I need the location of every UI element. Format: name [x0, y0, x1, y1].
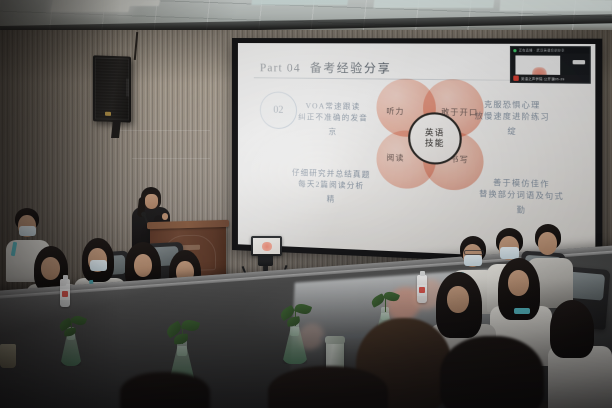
- note-tail: 精: [292, 192, 371, 206]
- face-mask: [90, 260, 107, 271]
- bottle-cap: [63, 275, 68, 280]
- note-tail: 京: [298, 125, 368, 138]
- attendee-hair: [120, 372, 210, 408]
- table-vase-1: [60, 326, 90, 366]
- attendee-head: [447, 286, 469, 313]
- attendee-head: [538, 232, 557, 255]
- speaker-logo: [105, 112, 111, 116]
- thermos-cap: [325, 336, 345, 344]
- watermark-footer-text: 英语之声学院·公开课05-29: [521, 76, 565, 81]
- foreground-attendee-2: [440, 336, 544, 408]
- face-mask: [19, 226, 36, 236]
- podium-top-surface: [147, 220, 229, 229]
- phone-screen: [253, 238, 280, 254]
- foreground-attendee-3: [268, 366, 388, 408]
- core-line-1: 英语: [425, 127, 445, 138]
- vase-glass: [60, 332, 82, 366]
- speaker-side-panel: [126, 78, 129, 96]
- water-bottle: [60, 279, 70, 307]
- note-line-1: 善于模仿佳作: [493, 178, 550, 189]
- slide-note-listening: VOA常速跟读 纠正不准确的发音 京: [298, 100, 368, 138]
- slide-title-chinese: 备考经验分享: [310, 63, 392, 76]
- attendee-hair: [550, 300, 594, 358]
- attendee-lanyard: [514, 308, 530, 314]
- note-line-2: 替换部分词语及句式: [479, 189, 564, 201]
- livestream-watermark: 正在直播 · 武汉英语培训分享 英语之声学院·公开课05-29: [510, 46, 591, 84]
- attendee-head: [508, 270, 529, 296]
- watermark-control-pill: [573, 60, 585, 64]
- note-line-1: 仔细研究并总结真题: [292, 168, 371, 179]
- attendee-right-6: [548, 300, 612, 408]
- slide-section-badge-number: 02: [273, 105, 283, 116]
- bottle-label: [417, 285, 427, 296]
- speaker-grill: [95, 57, 129, 120]
- note-line-2: 每天2篇阅读分析: [298, 179, 364, 190]
- petal-label-reading: 阅读: [386, 151, 404, 163]
- paper-cup: [0, 344, 16, 368]
- watermark-titlebar-text: 正在直播 · 武汉英语培训分享: [519, 48, 565, 52]
- slide-note-reading: 仔细研究并总结真题 每天2篇阅读分析 精: [292, 167, 371, 206]
- note-line-2: 纠正不准确的发音: [298, 112, 368, 122]
- skills-petal-diagram: 听力 敢于开口 阅读 书写 英语 技能: [376, 78, 490, 197]
- presenter-face: [145, 194, 158, 209]
- attendee-hair: [268, 366, 388, 408]
- bottle-cap: [420, 271, 425, 276]
- note-tail: 勤: [479, 202, 564, 217]
- eyeglasses: [464, 250, 484, 255]
- bottle-label: [60, 289, 70, 300]
- conference-room-photo: Part 04备考经验分享 02 VOA常速跟读 纠正不准确的发音 京 仔细研究…: [0, 0, 612, 408]
- vase-glass: [282, 327, 308, 364]
- table-vase-3: [282, 320, 314, 364]
- water-bottle: [417, 275, 427, 303]
- presenter-hand: [162, 213, 168, 220]
- petal-label-listening: 听力: [386, 105, 404, 117]
- attendee-head: [134, 254, 152, 277]
- slide-note-writing: 善于模仿佳作 替换部分词语及句式 勤: [479, 176, 564, 217]
- note-line-1: 克服恐惧心理: [484, 99, 540, 109]
- recording-phone[interactable]: [251, 236, 282, 256]
- ceiling-light-panel: [373, 0, 494, 8]
- slide-section-badge: 02: [260, 91, 297, 129]
- slide-title-part: Part 04: [260, 62, 301, 74]
- wall-speaker: [93, 55, 131, 122]
- slide-title: Part 04备考经验分享: [260, 59, 392, 76]
- foreground-attendee-4: [120, 372, 210, 408]
- attendee-head: [41, 257, 60, 280]
- note-line-1: VOA常速跟读: [306, 101, 361, 111]
- core-line-2: 技能: [425, 138, 445, 149]
- attendee-hair: [440, 336, 544, 408]
- watermark-footer: 英语之声学院·公开课05-29: [511, 74, 590, 82]
- plant-stem: [385, 298, 386, 312]
- face-mask: [464, 255, 482, 266]
- diagram-core-label: 英语 技能: [408, 112, 462, 165]
- watermark-titlebar: 正在直播 · 武汉英语培训分享: [511, 47, 590, 54]
- ceiling-light-panel: [500, 0, 612, 11]
- phone-screen-content: [262, 242, 272, 251]
- watermark-logo-icon: [513, 76, 519, 81]
- live-status-dot-icon: [513, 49, 516, 52]
